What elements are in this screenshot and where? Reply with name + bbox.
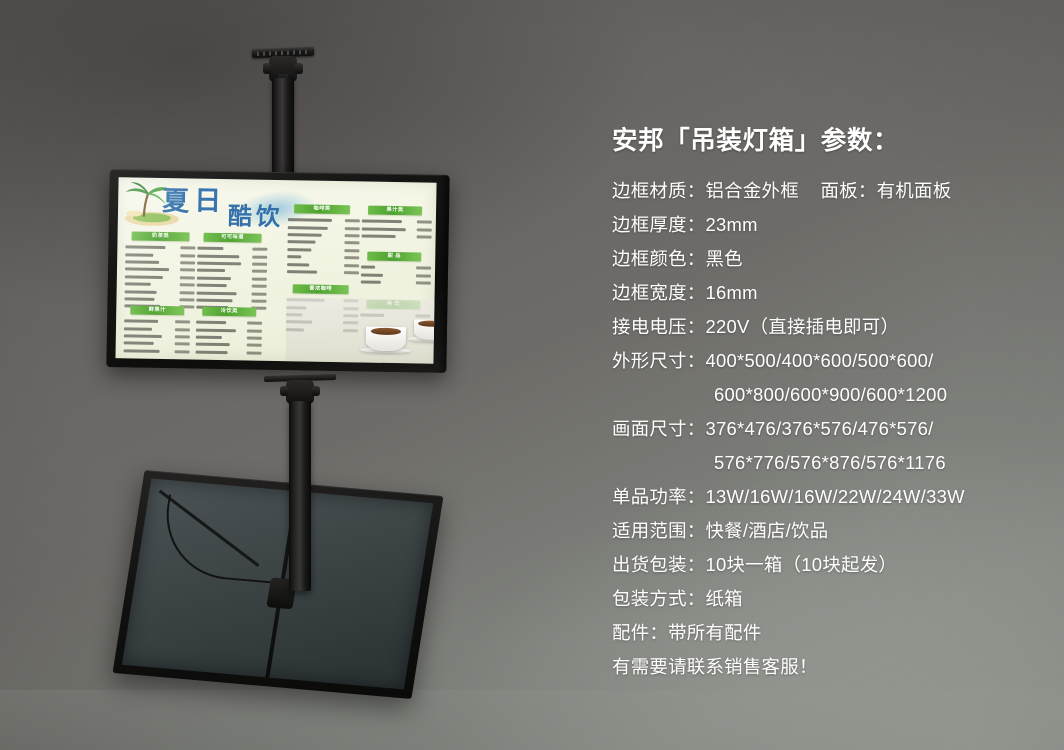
spec-line: 接电电压：220V（直接插电即可） [612, 310, 1052, 344]
menu-light-box: 夏 日 酷 饮 奶茶类 可可味道 [106, 169, 449, 373]
ceiling-mount-upper [252, 48, 314, 178]
menu-category-header: 香浓咖啡 [293, 284, 349, 294]
title-char-3: 酷 [228, 205, 252, 229]
title-char-2: 日 [194, 188, 221, 215]
menu-rows [287, 216, 360, 276]
menu-rows [196, 319, 263, 357]
spec-line-list: 边框材质：铝合金外框 面板：有机面板边框厚度：23mm边框颜色：黑色边框宽度：1… [612, 174, 1052, 684]
bolt-holes [257, 50, 309, 56]
ceiling-mount-lower [272, 375, 328, 590]
spec-title: 安邦「吊装灯箱」参数： [612, 126, 1052, 157]
menu-rows [124, 243, 195, 311]
title-char-4: 饮 [256, 206, 280, 230]
menu-category-header: 奶茶类 [132, 231, 190, 241]
menu-rows [196, 245, 267, 313]
background-floor-line [0, 690, 1064, 750]
spec-line: 边框颜色：黑色 [612, 242, 1052, 276]
coffee-beans [285, 305, 370, 364]
menu-category-header: 可可味道 [204, 233, 262, 243]
coffee-cup [414, 319, 435, 340]
drop-pole-lower [289, 401, 311, 591]
menu-category-header: 果汁类 [368, 206, 422, 216]
menu-category-header: 咖啡类 [294, 204, 350, 214]
swivel-knob-left [263, 63, 271, 74]
menu-panel: 夏 日 酷 饮 奶茶类 可可味道 [115, 177, 436, 364]
coffee-liquid [418, 321, 434, 327]
spec-line: 适用范围：快餐/酒店/饮品 [612, 514, 1052, 548]
menu-category-header: 甜 品 [367, 252, 421, 262]
spec-line: 配件：带所有配件 [612, 616, 1052, 650]
coffee-photo [285, 297, 434, 364]
spec-line: 边框宽度：16mm [612, 276, 1052, 310]
spec-line: 画面尺寸：376*476/376*576/476*576/ [612, 412, 1052, 446]
title-char-1: 夏 [162, 188, 189, 215]
spec-line: 有需要请联系销售客服！ [612, 650, 1052, 684]
menu-category-header: 冷饮类 [202, 307, 256, 317]
product-photo-composite: 夏 日 酷 饮 奶茶类 可可味道 [0, 0, 1064, 750]
swivel-knob-left [280, 386, 288, 396]
spec-line: 包装方式：纸箱 [612, 582, 1052, 616]
spec-line: 边框材质：铝合金外框 面板：有机面板 [612, 174, 1052, 208]
spec-panel: 安邦「吊装灯箱」参数： 边框材质：铝合金外框 面板：有机面板边框厚度：23mm边… [612, 126, 1052, 684]
spec-line: 600*800/600*900/600*1200 [612, 378, 1052, 412]
spec-line: 出货包装：10块一箱（10块起发） [612, 548, 1052, 582]
swivel-knob-right [295, 63, 303, 74]
spec-line: 外形尺寸：400*500/400*600/500*600/ [612, 344, 1052, 378]
spec-line: 单品功率：13W/16W/16W/22W/24W/33W [612, 480, 1052, 514]
coffee-liquid [371, 328, 402, 335]
spec-line: 576*776/576*876/576*1176 [612, 446, 1052, 480]
menu-rows [124, 317, 191, 355]
menu-rows [361, 263, 431, 286]
drop-pole-upper [272, 78, 294, 178]
coffee-cup [366, 327, 406, 352]
swivel-knob-right [312, 386, 320, 396]
menu-poster: 夏 日 酷 饮 奶茶类 可可味道 [115, 177, 436, 364]
menu-rows [362, 217, 432, 240]
spec-line: 边框厚度：23mm [612, 208, 1052, 242]
menu-category-header: 鲜果汁 [130, 305, 184, 315]
